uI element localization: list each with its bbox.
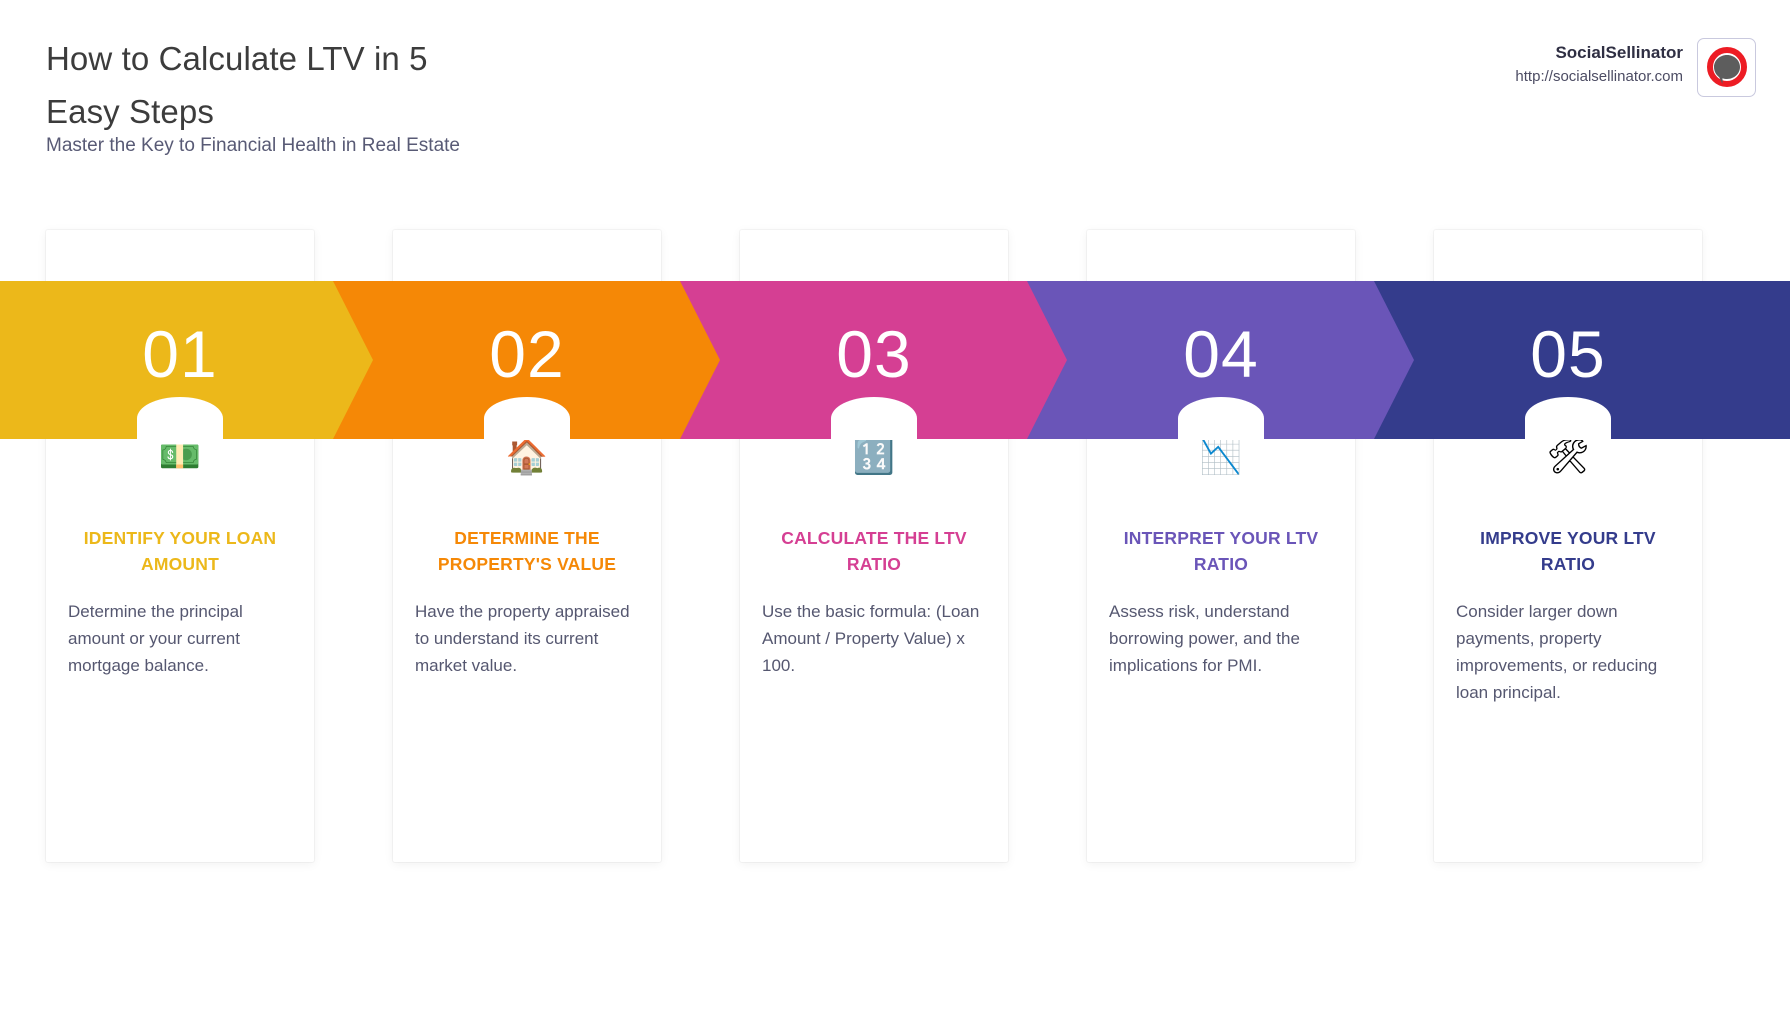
step-description: Determine the principal amount or your c… bbox=[68, 598, 298, 679]
speech-bubble-ring-logo-icon bbox=[1705, 46, 1749, 90]
card-notch bbox=[1178, 397, 1264, 440]
brand-name: SocialSellinator bbox=[1515, 42, 1683, 64]
step-chevron-band: 03 bbox=[680, 281, 1067, 439]
step-description: Have the property appraised to understan… bbox=[415, 598, 645, 679]
hammer-and-wrench-icon: 🛠 bbox=[1434, 437, 1702, 477]
step-title: DETERMINE THE PROPERTY'S VALUE bbox=[411, 525, 643, 577]
brand: SocialSellinator http://socialsellinator… bbox=[1515, 38, 1756, 97]
chart-decreasing-icon: 📉 bbox=[1087, 437, 1355, 477]
step-chevron-band: 05 bbox=[1374, 281, 1790, 439]
card-notch bbox=[831, 397, 917, 440]
step-description: Use the basic formula: (Loan Amount / Pr… bbox=[762, 598, 992, 679]
infographic-root: How to Calculate LTV in 5 Easy Steps Mas… bbox=[0, 0, 1790, 1024]
step-title: CALCULATE THE LTV RATIO bbox=[758, 525, 990, 577]
card-notch bbox=[1525, 397, 1611, 440]
brand-logo[interactable] bbox=[1697, 38, 1756, 97]
step-title: INTERPRET YOUR LTV RATIO bbox=[1105, 525, 1337, 577]
step-description: Assess risk, understand borrowing power,… bbox=[1109, 598, 1339, 679]
step-chevron-band: 02 bbox=[333, 281, 720, 439]
page-title: How to Calculate LTV in 5 Easy Steps bbox=[46, 32, 606, 138]
card-notch bbox=[484, 397, 570, 440]
step-description: Consider larger down payments, property … bbox=[1456, 598, 1686, 706]
step-chevron-band: 04 bbox=[1027, 281, 1414, 439]
input-numbers-icon: 🔢 bbox=[740, 437, 1008, 477]
card-notch bbox=[137, 397, 223, 440]
steps-container: 💵IDENTIFY YOUR LOAN AMOUNTDetermine the … bbox=[0, 230, 1790, 870]
money-banknote-icon: 💵 bbox=[46, 437, 314, 477]
page-title-line1: How to Calculate LTV in 5 bbox=[46, 32, 606, 85]
header: How to Calculate LTV in 5 Easy Steps Mas… bbox=[0, 0, 1790, 200]
page-title-line2: Easy Steps bbox=[46, 85, 606, 138]
page-subtitle: Master the Key to Financial Health in Re… bbox=[46, 133, 460, 159]
step-title: IDENTIFY YOUR LOAN AMOUNT bbox=[64, 525, 296, 577]
brand-text: SocialSellinator http://socialsellinator… bbox=[1515, 38, 1683, 88]
house-icon: 🏠 bbox=[393, 437, 661, 477]
step-chevron-band: 01 bbox=[0, 281, 373, 439]
brand-url[interactable]: http://socialsellinator.com bbox=[1515, 66, 1683, 88]
step-title: IMPROVE YOUR LTV RATIO bbox=[1452, 525, 1684, 577]
